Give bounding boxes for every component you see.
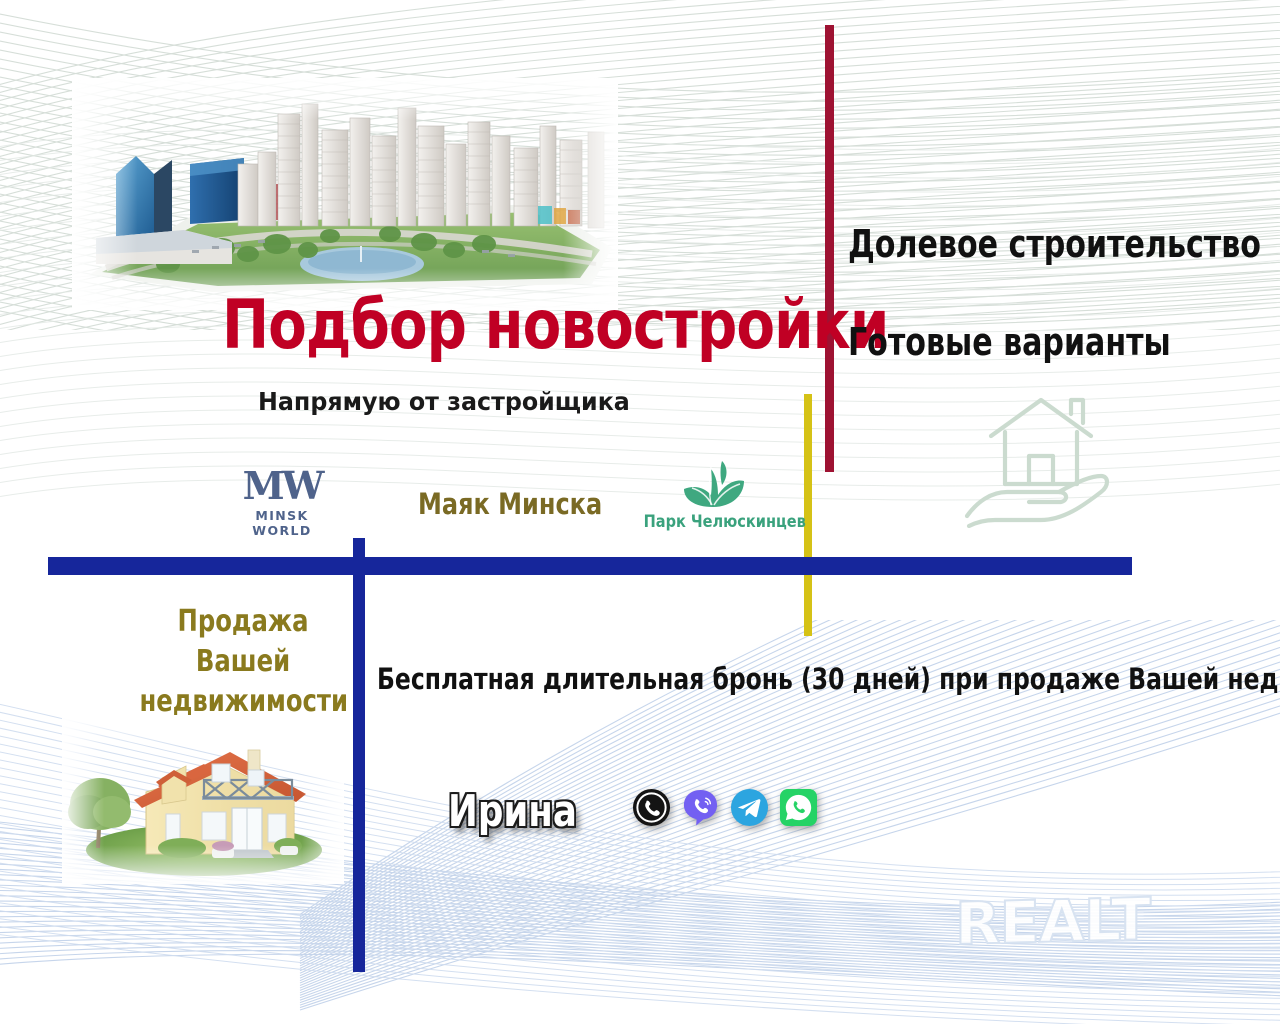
telegram-icon[interactable]	[730, 788, 769, 827]
offer-text: Бесплатная длительная бронь (30 дней) пр…	[377, 662, 1280, 696]
page-subtitle: Напрямую от застройщика	[258, 387, 630, 416]
house-in-hand-svg	[955, 392, 1127, 528]
whatsapp-icon-svg	[779, 788, 818, 827]
phone-icon[interactable]	[632, 788, 671, 827]
logo-park-chelyuskintsev[interactable]: Парк Челюскинцев	[640, 455, 786, 532]
phone-icon-svg	[632, 788, 671, 827]
left-promo-text: Продажа Вашей недвижимости	[140, 602, 347, 722]
cottage-house-svg	[62, 708, 344, 884]
city-skyline-image	[72, 78, 618, 310]
divider-red-vertical	[825, 25, 834, 472]
house-in-hand-icon	[955, 392, 1127, 528]
logo-minsk-world[interactable]: MW MINSK WORLD	[228, 466, 336, 538]
telegram-icon-svg	[730, 788, 769, 827]
cottage-house-image	[62, 708, 344, 884]
heading-ready-options: Готовые варианты	[848, 320, 1171, 364]
viber-icon[interactable]	[681, 788, 720, 827]
city-skyline-svg	[72, 78, 618, 310]
heading-shared-construction: Долевое строительство	[848, 222, 1261, 266]
agent-name: Ирина	[448, 786, 577, 837]
logo-mayak-minska[interactable]: Маяк Минска	[418, 487, 602, 521]
logo-minsk-world-monogram: MW	[228, 466, 336, 506]
advertisement-banner: Подбор новостройки Напрямую от застройщи…	[0, 0, 1280, 1024]
divider-blue-vertical	[353, 538, 365, 972]
page-title: Подбор новостройки	[222, 290, 888, 362]
realt-watermark: REALT	[955, 885, 1150, 958]
logo-park-caption: Парк Челюскинцев	[644, 512, 783, 532]
viber-icon-svg	[681, 788, 720, 827]
whatsapp-icon[interactable]	[779, 788, 818, 827]
leaf-icon	[678, 455, 748, 511]
contact-icons	[632, 788, 818, 827]
logo-minsk-world-caption: MINSK WORLD	[228, 508, 336, 538]
divider-blue-horizontal	[48, 557, 1132, 575]
